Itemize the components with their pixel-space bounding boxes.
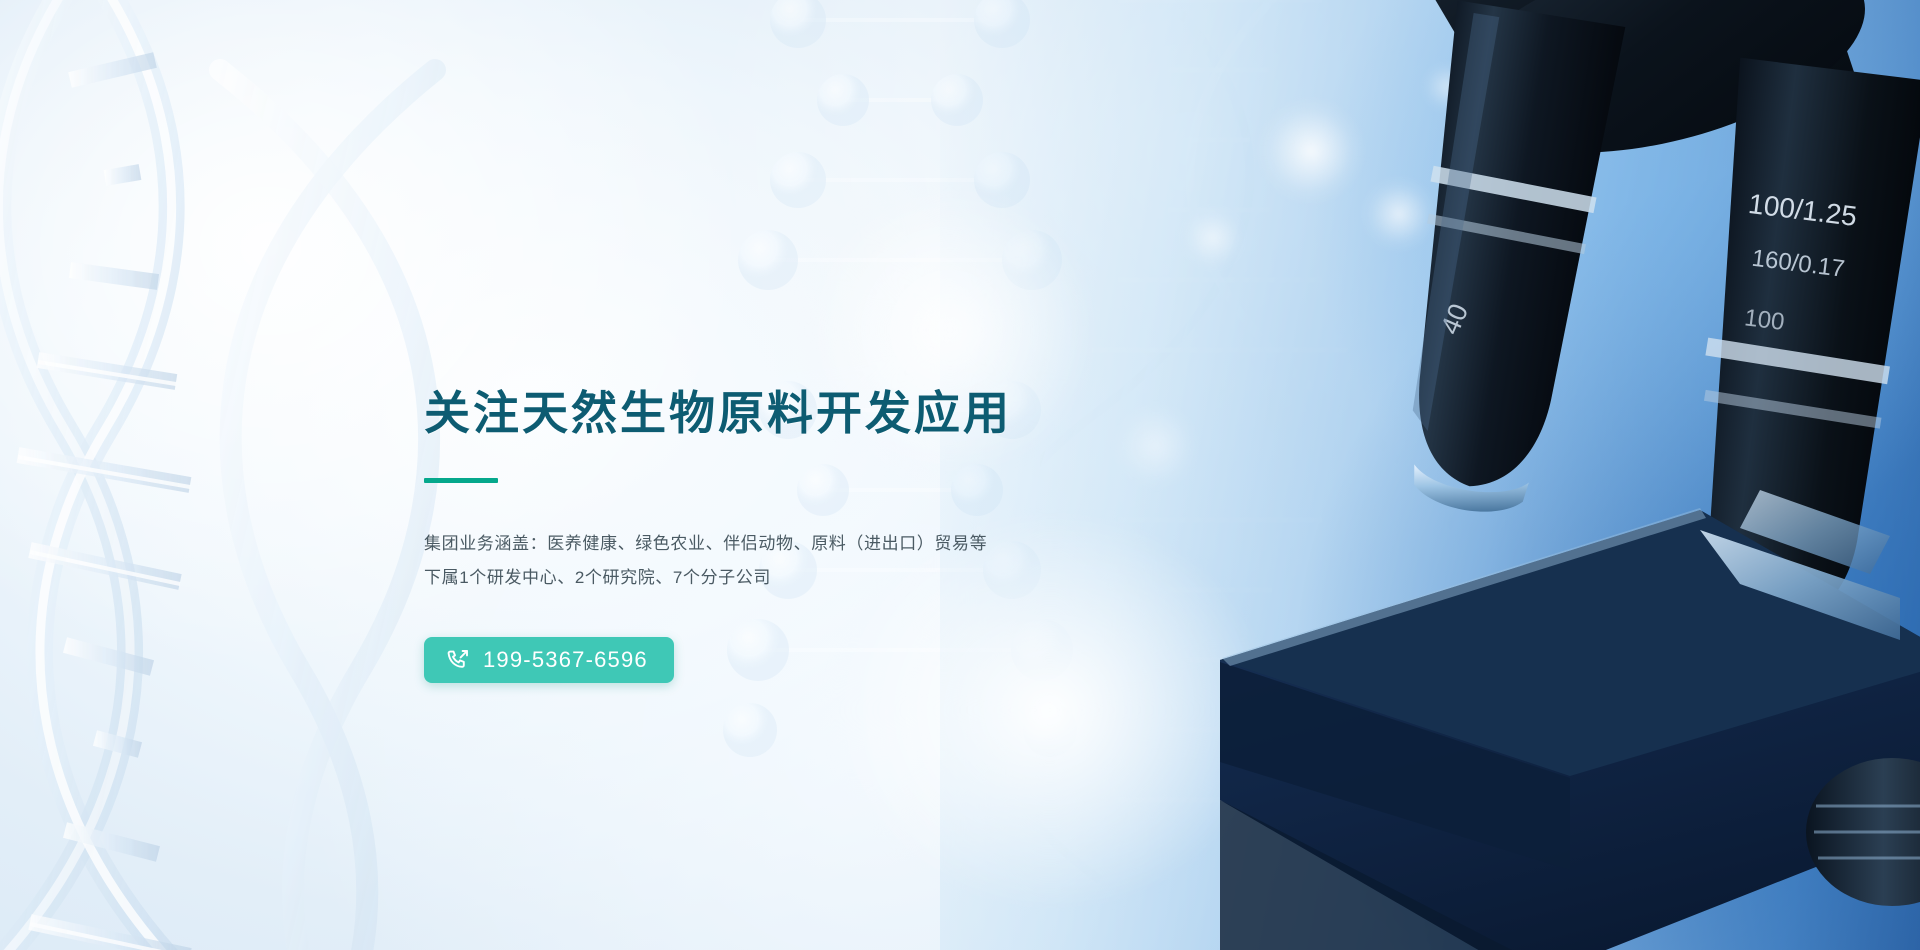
- page-title: 关注天然生物原料开发应用: [424, 386, 1204, 440]
- svg-text:100: 100: [1743, 304, 1786, 336]
- phone-number: 199-5367-6596: [483, 647, 648, 673]
- title-divider: [424, 478, 498, 483]
- phone-outgoing-icon: [446, 648, 470, 672]
- hero-description: 集团业务涵盖：医养健康、绿色农业、伴侣动物、原料（进出口）贸易等 下属1个研发中…: [424, 527, 1204, 595]
- description-line-2: 下属1个研发中心、2个研究院、7个分子公司: [424, 561, 1204, 595]
- microscope-icon: 40 100/1.25 160/0.17 100: [1100, 0, 1920, 950]
- hero-content: 关注天然生物原料开发应用 集团业务涵盖：医养健康、绿色农业、伴侣动物、原料（进出…: [424, 386, 1204, 683]
- description-line-1: 集团业务涵盖：医养健康、绿色农业、伴侣动物、原料（进出口）贸易等: [424, 527, 1204, 561]
- hero-banner: 40 100/1.25 160/0.17 100: [0, 0, 1920, 950]
- phone-cta-button[interactable]: 199-5367-6596: [424, 637, 674, 683]
